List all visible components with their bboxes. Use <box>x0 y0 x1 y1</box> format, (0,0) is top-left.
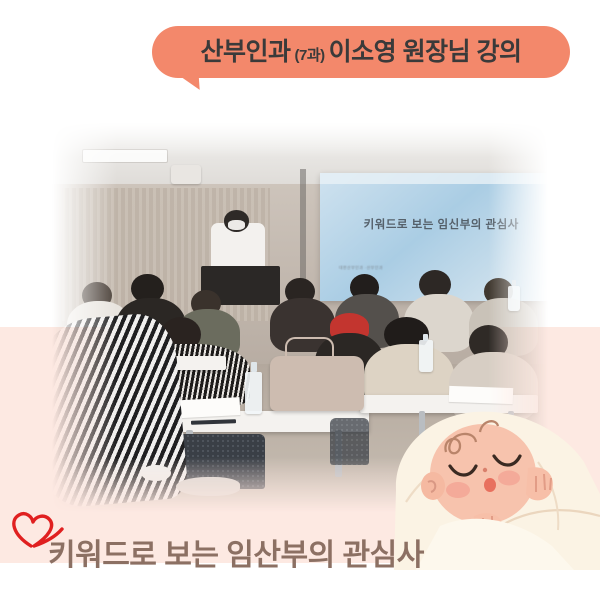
baby-mouth <box>484 478 496 492</box>
baby-head <box>430 424 536 524</box>
title-speech-bubble: 산부인과(7과)이소영 원장님 강의 <box>152 26 570 88</box>
chair <box>330 418 370 465</box>
footer-caption: 키워드로 보는 임산부의 관심사 <box>48 541 424 571</box>
baby-cheek-right <box>498 471 520 486</box>
baby-nose <box>483 468 487 472</box>
projector-unit <box>171 165 201 185</box>
water-bottle <box>508 286 520 311</box>
screen-title-text: 키워드로 보는 임신부의 관심사 <box>332 216 548 232</box>
handbag <box>270 356 364 411</box>
poster-card: 산부인과(7과)이소영 원장님 강의 키워드로 보는 임신부의 관심사 대한산부… <box>0 0 600 600</box>
bubble-main-prefix: 산부인과 <box>200 40 290 65</box>
speech-bubble-body: 산부인과(7과)이소영 원장님 강의 <box>152 26 570 78</box>
lecturer-face-mask <box>228 220 246 229</box>
ceiling-light <box>82 149 168 163</box>
shoe <box>176 477 240 497</box>
screen-subtitle-text: 대한산부인과 ·산부인과 <box>339 265 434 271</box>
speech-bubble-text: 산부인과(7과)이소영 원장님 강의 <box>200 40 521 65</box>
water-bottle <box>245 372 262 415</box>
bubble-main-suffix: 이소영 원장님 강의 <box>329 40 522 65</box>
handbag-handle <box>285 337 334 362</box>
water-bottle <box>419 340 433 371</box>
screen-top-band <box>320 173 548 185</box>
foreground-striped-coat <box>52 311 189 510</box>
baby-cheek-left <box>446 482 470 498</box>
shoe <box>141 465 171 481</box>
baby-ear <box>421 472 445 500</box>
bubble-course-note: (7과) <box>294 48 324 63</box>
chair-mesh <box>330 418 370 465</box>
